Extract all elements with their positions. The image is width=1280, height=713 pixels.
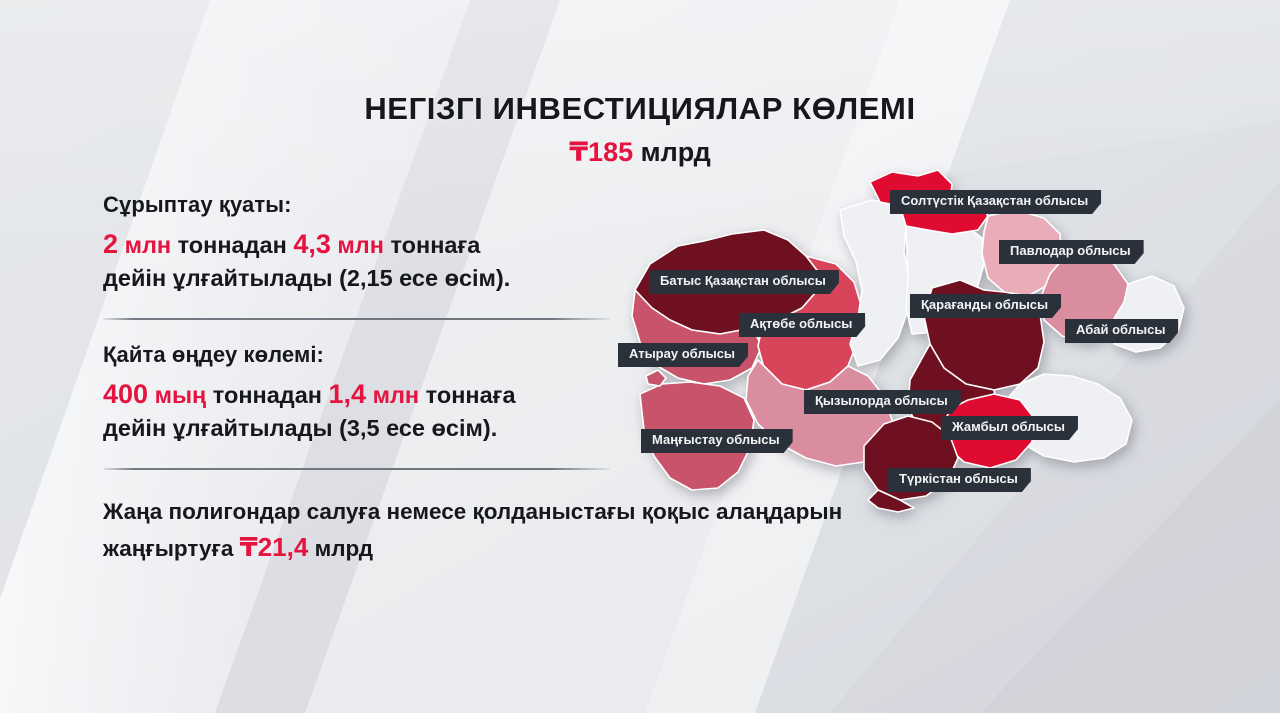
map-label-batys-qazaqstan[interactable]: Батыс Қазақстан облысы	[649, 270, 839, 294]
recycling-mid-word: тоннадан	[213, 382, 322, 408]
sorting-from-value: 2	[103, 229, 118, 259]
map-label-abay[interactable]: Абай облысы	[1065, 319, 1178, 343]
map-label-turkistan[interactable]: Түркістан облысы	[888, 468, 1031, 492]
stat-block-sorting-heading: Сұрыптау қуаты:	[103, 192, 623, 218]
page-title: НЕГІЗГІ ИНВЕСТИЦИЯЛАР КӨЛЕМІ	[0, 92, 1280, 126]
map-label-soltustik-qazaqstan[interactable]: Солтүстік Қазақстан облысы	[890, 190, 1101, 214]
landfill-line-2: жаңғыртуға ₸21,4 млрд	[103, 529, 1043, 567]
recycling-growth-line: дейін ұлғайтылады (3,5 есе өсім).	[103, 413, 623, 444]
recycling-tail-word: тоннаға	[426, 382, 516, 408]
sorting-tail-word: тоннаға	[390, 232, 480, 258]
stat-block-recycling: Қайта өңдеу көлемі: 400 мың тоннадан 1,4…	[103, 342, 623, 444]
map-label-zhambyl[interactable]: Жамбыл облысы	[941, 416, 1078, 440]
divider-1	[103, 318, 610, 320]
kazakhstan-choropleth-map: Солтүстік Қазақстан облысы Павлодар облы…	[592, 168, 1212, 513]
sorting-mid-word: тоннадан	[178, 232, 287, 258]
sorting-growth-line: дейін ұлғайтылады (2,15 есе өсім).	[103, 263, 623, 294]
header: НЕГІЗГІ ИНВЕСТИЦИЯЛАР КӨЛЕМІ ₸185 млрд	[0, 92, 1280, 168]
landfill-prefix: жаңғыртуға	[103, 536, 233, 561]
sorting-from-unit: млн	[125, 232, 172, 258]
stat-block-recycling-body: 400 мың тоннадан 1,4 млн тоннаға дейін ұ…	[103, 377, 623, 444]
landfill-amount: ₸21,4	[240, 532, 309, 562]
header-amount: ₸185 млрд	[0, 137, 1280, 168]
map-label-aktobe[interactable]: Ақтөбе облысы	[739, 313, 865, 337]
header-amount-unit: млрд	[641, 137, 711, 167]
recycling-to-value: 1,4	[329, 379, 367, 409]
map-label-mangystau[interactable]: Маңғыстау облысы	[641, 429, 793, 453]
recycling-to-unit: млн	[373, 382, 420, 408]
sorting-to-value: 4,3	[293, 229, 331, 259]
map-label-atyrau[interactable]: Атырау облысы	[618, 343, 748, 367]
recycling-from-value: 400	[103, 379, 148, 409]
divider-2	[103, 468, 610, 470]
recycling-from-unit: мың	[155, 382, 207, 408]
stats-panel: Сұрыптау қуаты: 2 млн тоннадан 4,3 млн т…	[103, 192, 623, 567]
stat-block-recycling-heading: Қайта өңдеу көлемі:	[103, 342, 623, 368]
map-label-qyzylorda[interactable]: Қызылорда облысы	[804, 390, 961, 414]
header-amount-value: ₸185	[569, 137, 633, 167]
sorting-to-unit: млн	[337, 232, 384, 258]
map-label-qaragandy[interactable]: Қарағанды облысы	[910, 294, 1061, 318]
stat-block-sorting-body: 2 млн тоннадан 4,3 млн тоннаға дейін ұлғ…	[103, 227, 623, 294]
stat-block-sorting: Сұрыптау қуаты: 2 млн тоннадан 4,3 млн т…	[103, 192, 623, 294]
map-label-pavlodar[interactable]: Павлодар облысы	[999, 240, 1144, 264]
landfill-amount-unit: млрд	[315, 536, 373, 561]
